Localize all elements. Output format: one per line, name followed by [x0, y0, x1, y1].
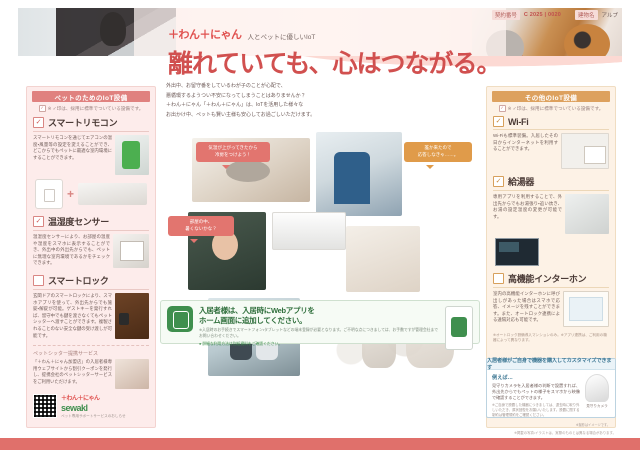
- service-logo-secondary: sewakl: [61, 403, 149, 413]
- smart-lock-photo: [115, 293, 149, 339]
- check-legend-icon: ✓: [39, 105, 46, 112]
- service-body: 「＋わん＋にゃん加盟店」の入居者様専用ウェブサイトから割引クーポンを発行し、提携…: [33, 359, 149, 389]
- equipment-item-wifi[interactable]: ✓ Wi-Fi Wi-Fiも標準装備。入居したその日からインターネットを利用する…: [493, 116, 609, 169]
- right-column-footnote: ※オートロック設備導入マンションのみ。※アプリ連携は、ご利用の機器によって異なり…: [493, 333, 609, 343]
- building-name-chip: 建物名 アルプ: [575, 10, 618, 20]
- page-footnote: ※掲載の写真・イラストは、実際のものとは異なる場合があります。: [514, 430, 616, 435]
- app-instruction-box: 入居者様は、入居時にWebアプリを ホーム画面に追加してください。 ※入居時のお…: [160, 300, 480, 356]
- item-title: スマートロック: [48, 274, 109, 287]
- app-icon: [167, 306, 193, 332]
- item-title: Wi-Fi: [508, 117, 528, 127]
- building-name-value: アルプ: [602, 11, 618, 19]
- equipment-item-water-heater[interactable]: ✓ 給湯器 専用アプリを利用することで、外出先からでもお湯張り・追い炊き、お湯の…: [493, 175, 609, 266]
- checkbox-icon[interactable]: ✓: [493, 273, 504, 284]
- item-header: ✓ 給湯器: [493, 175, 609, 191]
- bubble-temp-up: 気温が上がってきたから 冷房をつけよう！: [196, 142, 270, 162]
- camera-box-title: 入居者様がご自身で機器を購入してカスタマイズできます: [487, 359, 615, 370]
- man-at-door-photo: [316, 132, 402, 216]
- app-phone-mock: [445, 306, 473, 350]
- right-column-title: その他のIoT設備: [492, 91, 610, 102]
- app-note-bold: ● 詳細な利用方法は別紙資料をご確認ください。: [199, 342, 439, 348]
- temperature-sensor-photo: [113, 234, 149, 268]
- item-description: Wi-Fiも標準装備。入居したその日からインターネットを利用することができます。: [493, 133, 558, 169]
- equipment-item-smart-remote[interactable]: ✓ スマートリモコン スマートリモコンを通じてエアコンの温度・風量等の設定を変え…: [33, 116, 149, 209]
- equipment-item-smart-lock[interactable]: ✓ スマートロック 玄関ドアのスマートロックにより、スマホアプリを使って、外出先…: [33, 274, 149, 339]
- hero-text-block: ＋わん＋にゃん 人とペットに優しいIoT 離れていても、心はつながる。: [168, 26, 508, 80]
- service-footer: ＋わん＋にゃん sewakl ペット専用サポートサービスのおしらせ: [33, 393, 149, 419]
- service-logo-caption: ペット専用サポートサービスのおしらせ: [61, 414, 149, 419]
- heater-panel-row: [495, 238, 607, 266]
- app-text-block: 入居者様は、入居時にWebアプリを ホーム画面に追加してください。 ※入居時のお…: [199, 306, 439, 347]
- intercom-photo: [563, 291, 609, 327]
- left-column: ペットのためのIoT設備 ✓ ※ ✓印は、採用に標準でついている設備です。 ✓ …: [26, 86, 156, 428]
- camera-subtitle: 例えば…: [492, 374, 580, 381]
- item-body: 専用アプリを利用することで、外出先からでもお湯張り・追い炊き、お湯の設定温度の変…: [493, 194, 609, 234]
- item-description: 温湿度センサーにより、お部屋の温度や湿度をスマホに表示することができ、外出中の外…: [33, 234, 110, 268]
- checkbox-icon[interactable]: ✓: [33, 216, 44, 227]
- remote-accessory-row: +: [35, 179, 147, 209]
- app-title: 入居者様は、入居時にWebアプリを ホーム画面に追加してください。: [199, 306, 439, 326]
- item-description: 専用アプリを利用することで、外出先からでもお湯張り・追い炊き、お湯の設定温度の変…: [493, 194, 562, 234]
- contract-chips: 契約番号 C 2025 | 0020 建物名 アルプ: [492, 10, 618, 20]
- building-name-label: 建物名: [575, 10, 598, 20]
- right-column-note: ✓ ※ ✓印は、採用に標準でついている設備です。: [487, 105, 615, 112]
- item-body: 玄関ドアのスマートロックにより、スマホアプリを使って、外出先からでも施錠・解錠が…: [33, 293, 149, 339]
- item-title: 高機能インターホン: [508, 272, 586, 285]
- bubble-visitor: 誰か来たので 応答しなきゃ……。: [404, 142, 472, 162]
- app-box-inner: 入居者様は、入居時にWebアプリを ホーム画面に追加してください。 ※入居時のお…: [160, 300, 480, 344]
- qr-code-icon[interactable]: [33, 394, 57, 418]
- checkbox-icon[interactable]: ✓: [493, 116, 504, 127]
- center-content: 外出中、お留守番をしているわが子のことが心配で、 悪循環するようつい不安になって…: [160, 82, 480, 426]
- brochure-page: ＋わん＋にゃん 人とペットに優しいIoT 離れていても、心はつながる。 契約番号…: [0, 0, 640, 450]
- heater-control-panel-photo: [495, 238, 539, 266]
- camera-description: 見守りカメラを入居者様の判断で設置すれば、外出先からでもペットの様子をスマホから…: [492, 383, 580, 401]
- camera-box-body: 例えば… 見守りカメラを入居者様の判断で設置すれば、外出先からでもペットの様子を…: [487, 370, 615, 422]
- item-header: ✓ スマートロック: [33, 274, 149, 290]
- air-conditioner-photo: [272, 212, 346, 250]
- item-title: スマートリモコン: [48, 116, 117, 129]
- app-note: ※入居時のお手続きでスマートフォン・タブレットなどの端末登録が必要となります。ご…: [199, 328, 439, 339]
- camera-footnote: ※撮影はイメージです。: [487, 422, 615, 427]
- item-description: スマートリモコンを通じてエアコンの温度・風量等の設定を変えることができ、どこから…: [33, 135, 112, 175]
- smart-plug-photo: [35, 179, 63, 209]
- petsitter-service-block: ペットシッター提携サービス 「＋わん＋にゃん加盟店」の入居者様専用ウェブサイトか…: [33, 345, 149, 419]
- item-title: 給湯器: [508, 175, 534, 188]
- service-title: ペットシッター提携サービス: [33, 350, 149, 357]
- wifi-outlet-photo: [561, 133, 609, 169]
- contract-number-chip: 契約番号 C 2025 | 0020: [492, 10, 561, 20]
- brand-lockup: ＋わん＋にゃん 人とペットに優しいIoT: [168, 26, 508, 42]
- camera-note: ※ご自身で設置した機器につきましては、退去時に取り外しいただき、原状回復をお願い…: [492, 403, 580, 417]
- camera-caption: 見守りカメラ: [584, 404, 610, 409]
- item-header: ✓ 高機能インターホン: [493, 272, 609, 288]
- camera-image-block: 見守りカメラ: [584, 374, 610, 418]
- equipment-item-intercom[interactable]: ✓ 高機能インターホン 室内の高機能インターホンに呼び出しがあった場合はスマホで…: [493, 272, 609, 327]
- item-body: Wi-Fiも標準装備。入居したその日からインターネットを利用することができます。: [493, 133, 609, 169]
- item-header: ✓ Wi-Fi: [493, 116, 609, 130]
- bubble-room-hot: 部屋の中、 暑くないかな？: [168, 216, 234, 236]
- brand-logo: ＋わん＋にゃん: [168, 26, 242, 42]
- petsitter-photo: [115, 359, 149, 389]
- footer-bar: [0, 438, 640, 450]
- plus-icon: +: [67, 187, 74, 201]
- service-logo-primary: ＋わん＋にゃん: [61, 393, 149, 402]
- item-description: 玄関ドアのスマートロックにより、スマホアプリを使って、外出先からでも施錠・解錠が…: [33, 293, 112, 339]
- checkbox-icon[interactable]: ✓: [493, 176, 504, 187]
- contract-number-value: C 2025 | 0020: [524, 12, 561, 18]
- service-logos: ＋わん＋にゃん sewakl ペット専用サポートサービスのおしらせ: [61, 393, 149, 419]
- item-body: スマートリモコンを通じてエアコンの温度・風量等の設定を変えることができ、どこから…: [33, 135, 149, 175]
- camera-text-block: 例えば… 見守りカメラを入居者様の判断で設置すれば、外出先からでもペットの様子を…: [492, 374, 580, 418]
- equipment-item-temp-sensor[interactable]: ✓ 温湿度センサー 温湿度センサーにより、お部屋の温度や湿度をスマホに表示するこ…: [33, 215, 149, 268]
- left-column-note-text: ※ ✓印は、採用に標準でついている設備です。: [48, 106, 144, 112]
- remote-strip-photo: [78, 183, 147, 205]
- item-title: 温湿度センサー: [48, 215, 109, 228]
- water-heater-photo: [565, 194, 609, 234]
- smart-remote-photo: [115, 135, 149, 175]
- lead-paragraph: 外出中、お留守番をしているわが子のことが心配で、 悪循環するようつい不安になって…: [166, 82, 474, 120]
- left-column-title: ペットのためのIoT設備: [32, 91, 150, 102]
- checkbox-icon[interactable]: ✓: [33, 275, 44, 286]
- item-body: 温湿度センサーにより、お部屋の温度や湿度をスマホに表示することができ、外出中の外…: [33, 234, 149, 268]
- check-legend-icon: ✓: [499, 105, 506, 112]
- item-body: 室内の高機能インターホンに呼び出しがあった場合はスマホで応答、イメージを残すこと…: [493, 291, 609, 327]
- right-column-note-text: ※ ✓印は、採用に標準でついている設備です。: [508, 106, 604, 112]
- security-camera-photo: [585, 374, 609, 402]
- checkbox-icon[interactable]: ✓: [33, 117, 44, 128]
- contract-number-label: 契約番号: [492, 10, 520, 20]
- item-description: 室内の高機能インターホンに呼び出しがあった場合はスマホで応答、イメージを残すこと…: [493, 291, 560, 327]
- page-title: 離れていても、心はつながる。: [168, 44, 508, 80]
- left-column-note: ✓ ※ ✓印は、採用に標準でついている設備です。: [27, 105, 155, 112]
- brand-tagline: 人とペットに優しいIoT: [248, 31, 316, 42]
- service-description: 「＋わん＋にゃん加盟店」の入居者様専用ウェブサイトから割引クーポンを発行し、提携…: [33, 359, 112, 389]
- item-header: ✓ 温湿度センサー: [33, 215, 149, 231]
- item-header: ✓ スマートリモコン: [33, 116, 149, 132]
- camera-customization-box: 入居者様がご自身で機器を購入してカスタマイズできます 例えば… 見守りカメラを入…: [486, 358, 616, 418]
